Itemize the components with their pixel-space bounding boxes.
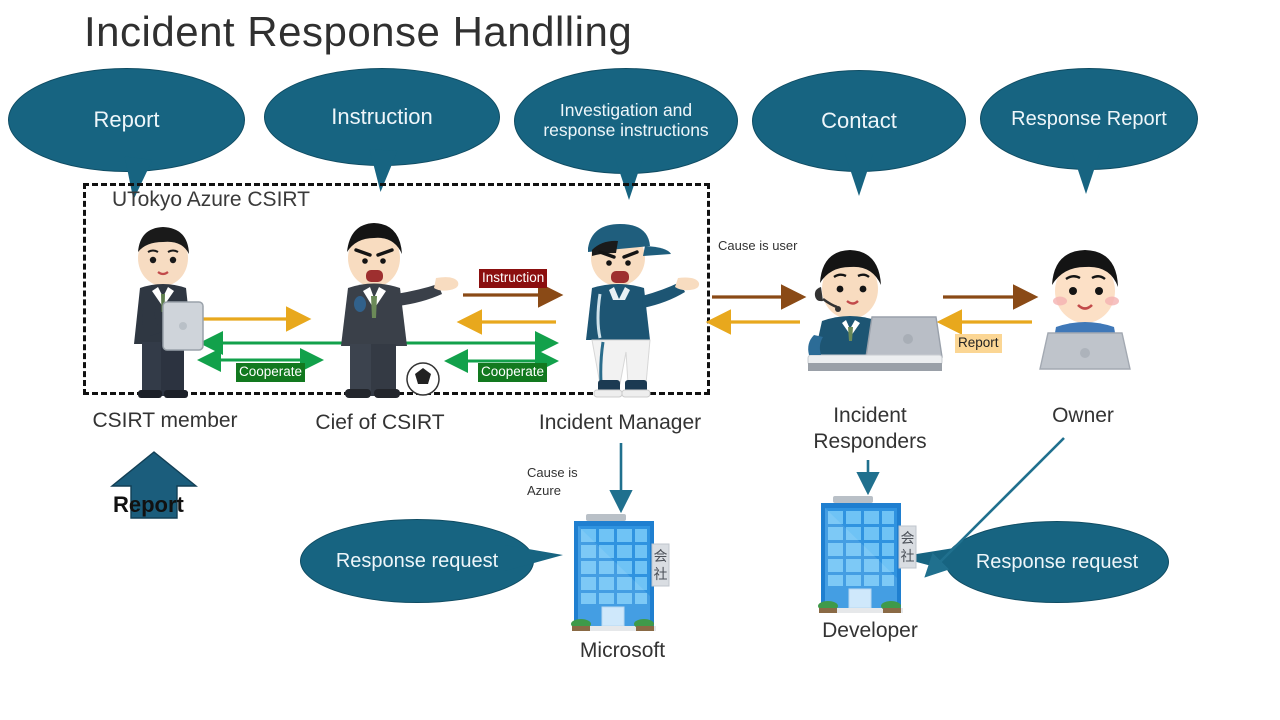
svg-text:社: 社 <box>901 549 915 565</box>
caption-incident-manager: Incident Manager <box>520 410 720 436</box>
speech-bubble-investigation-label: Investigation and response instructions <box>515 101 737 140</box>
caption-incident-responders: Incident Responders <box>780 403 960 454</box>
speech-bubble-response-request-developer-label: Response request <box>966 551 1148 573</box>
caption-csirt-member: CSIRT member <box>70 408 260 434</box>
speech-bubble-response-request-microsoft[interactable]: Response request <box>300 519 534 603</box>
svg-text:社: 社 <box>654 567 668 583</box>
figure-cief-of-csirt <box>326 216 466 398</box>
caption-owner: Owner <box>1000 403 1166 429</box>
page-title: Incident Response Handlling <box>84 8 632 56</box>
figure-owner <box>1030 243 1140 371</box>
figure-incident-responders <box>790 243 945 371</box>
csirt-group-box-label: UTokyo Azure CSIRT <box>112 188 310 212</box>
speech-bubble-report-label: Report <box>83 108 169 133</box>
tag-cooperate-left: Cooperate <box>236 363 305 382</box>
note-cause-is-user: Cause is user <box>718 237 797 255</box>
building-sign-developer: 会 <box>901 531 915 547</box>
speech-bubble-response-request-developer[interactable]: Response request <box>945 521 1169 603</box>
speech-bubble-response-request-microsoft-label: Response request <box>326 550 508 572</box>
figure-csirt-member <box>118 218 208 398</box>
tag-instruction: Instruction <box>479 269 547 288</box>
figure-incident-manager <box>570 214 700 398</box>
label-report-bottom: Report <box>113 492 184 518</box>
speech-bubble-response-report-tail <box>1072 152 1100 194</box>
building-sign-microsoft: 会 <box>654 549 668 565</box>
caption-developer: Developer <box>790 618 950 644</box>
speech-bubble-contact-label: Contact <box>811 109 907 134</box>
speech-bubble-contact-tail <box>845 154 873 196</box>
speech-bubble-response-request-microsoft-tail <box>505 545 563 571</box>
speech-bubble-response-report-label: Response Report <box>1001 108 1177 130</box>
speech-bubble-instruction-label: Instruction <box>321 105 443 130</box>
tag-cooperate-right: Cooperate <box>478 363 547 382</box>
figure-building-microsoft: 会 社 <box>568 508 678 636</box>
caption-microsoft: Microsoft <box>540 638 705 664</box>
caption-cief-of-csirt: Cief of CSIRT <box>290 410 470 436</box>
tag-report-badge: Report <box>955 334 1002 353</box>
figure-building-developer: 会 社 <box>815 490 925 618</box>
note-cause-is-azure: Cause is Azure <box>527 464 578 499</box>
